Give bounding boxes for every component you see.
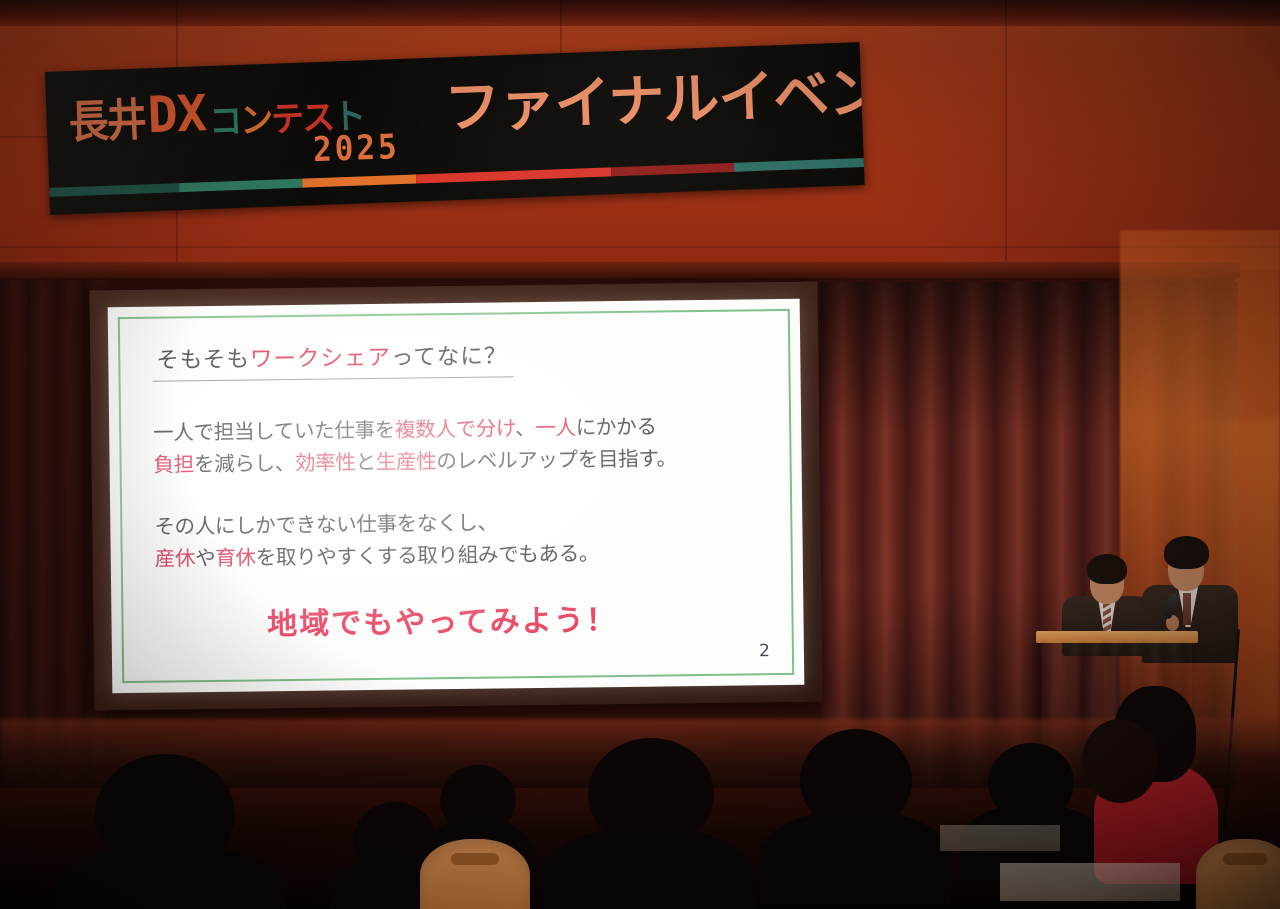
banner-logo-contest-char: ン [239,100,271,140]
stripe-segment [416,167,612,183]
conference-hall-photo: 長井 DX コンテスト 2025 ファイナルイベント そもそもワークシェアってな… [0,0,1280,909]
stripe-segment [302,174,416,187]
banquet-chair [1196,839,1280,909]
chair-back-slot [451,853,499,865]
presentation-slide: そもそもワークシェアってなに？ 一人で担当していた仕事を複数人で分け、一人にかか… [108,299,805,693]
slide-paragraph-2: その人にしかできない仕事をなくし、 産休や育休を取りやすくする取り組みでもある。 [154,504,769,575]
text-run: 育休 [215,545,256,569]
text-run: 、 [515,416,535,440]
text-run: を取りやすくする取り組みでもある。 [256,541,600,569]
text-run: 産休 [155,546,196,570]
audience-head [1082,719,1158,803]
stripe-segment [180,179,302,192]
slide-paragraph-2-line-2: 産休や育休を取りやすくする取り組みでもある。 [155,536,769,575]
audience-member [540,734,755,909]
text-run: 生産性 [376,449,437,474]
text-run: 一人で担当していた仕事を [153,418,395,445]
chair-back-slot [1223,853,1266,865]
presenter-right-hair [1164,536,1209,569]
slide-paragraph-1-line-2: 負担を減らし、効率性と生産性のレベルアップを目指す。 [153,442,767,481]
stripe-segment [733,158,864,172]
presenter-left-hair [1087,554,1127,584]
text-run: 効率性 [295,450,356,475]
slide-heading-part: ってなに？ [391,343,508,370]
banner-logo-contest-char: コ [208,101,240,141]
audience-shoulders [540,826,755,909]
text-run: 負担 [153,452,194,476]
banner-event-title: ファイナルイベント [444,61,865,138]
slide-heading-part: ワークシェア [250,345,391,373]
audience-member [760,725,950,885]
slide-content: そもそもワークシェアってなに？ 一人で担当していた仕事を複数人で分け、一人にかか… [152,339,770,666]
event-banner: 長井 DX コンテスト 2025 ファイナルイベント [45,42,865,215]
ceiling-shadow [0,0,1280,26]
wall-seam [1005,0,1007,268]
projection-screen-frame: そもそもワークシェアってなに？ 一人で担当していた仕事を複数人で分け、一人にかか… [89,282,822,711]
stage-proscenium-bar [0,262,1240,278]
stripe-segment [611,163,733,176]
audience-shoulders [760,809,950,904]
banner-year: 2025 [312,127,400,170]
audience-member [55,744,285,909]
presenter-right-tie [1183,593,1191,625]
banner-logo-nagai: 長井 [68,98,146,146]
banner-logo-contest-char: テ [270,99,302,139]
banquet-table [1000,863,1180,901]
slide-page-number: 2 [759,641,770,661]
text-run: その人にしかできない仕事をなくし、 [154,510,498,538]
slide-heading-part: そもそも [156,347,250,374]
banquet-chair [420,839,530,909]
audience-shoulders [55,844,285,909]
stripe-segment [49,183,180,197]
slide-paragraph-1: 一人で担当していた仕事を複数人で分け、一人にかかる 負担を減らし、効率性と生産性… [153,410,768,481]
text-run: 一人 [535,416,576,440]
text-run: や [195,545,215,569]
slide-heading: そもそもワークシェアってなに？ [152,342,513,382]
text-run: にかかる [576,415,657,440]
text-run: 複数人で分け [395,417,515,442]
slide-slogan: 地域でもやってみよう！ [155,593,769,644]
text-run: を減らし、 [194,451,295,476]
text-run: と [355,450,375,474]
banner-logo-dx: DX [147,88,207,140]
wall-panel-line [0,136,50,138]
wall-panel-line [0,246,1280,248]
banquet-table [940,825,1060,851]
text-run: のレベルアップを目指す。 [436,446,677,473]
audience-member [1060,719,1180,849]
